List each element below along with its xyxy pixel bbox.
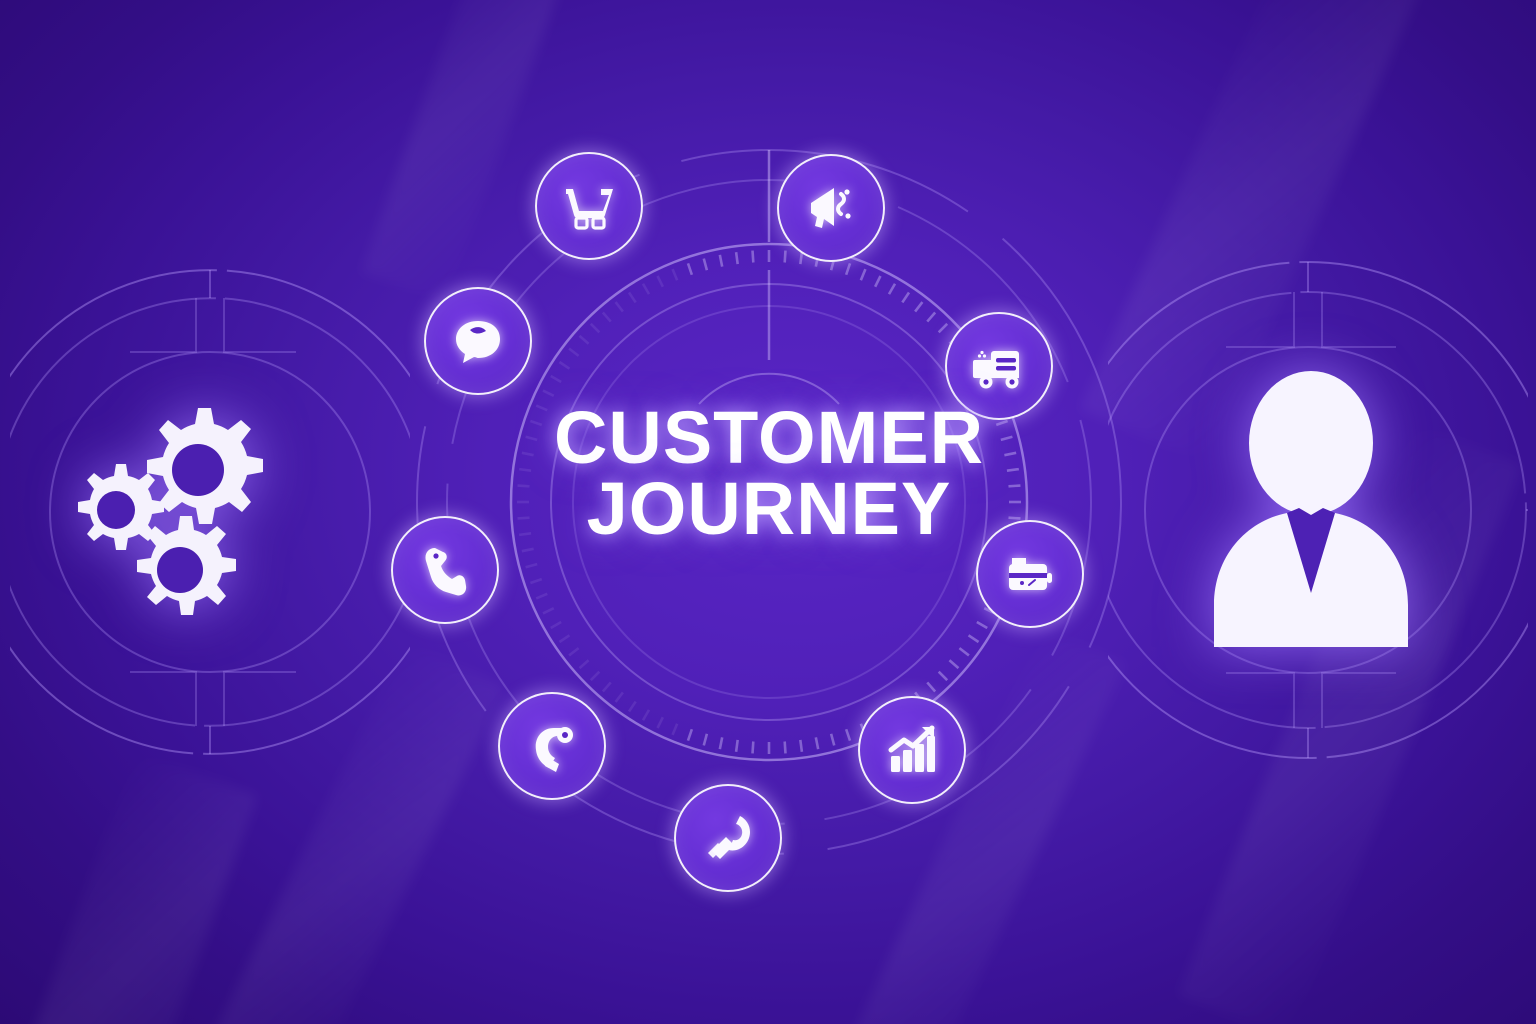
customer-person-panel — [1108, 255, 1528, 765]
title-line-2: JOURNEY — [369, 473, 1169, 544]
support-headset-icon — [524, 718, 580, 774]
node-analytics[interactable] — [858, 696, 966, 804]
node-chat[interactable] — [424, 287, 532, 395]
light-streak — [0, 750, 258, 1024]
process-gears-panel — [10, 262, 410, 762]
customer-journey-infographic: CUSTOMER JOURNEY — [0, 0, 1536, 1024]
page-title: CUSTOMER JOURNEY — [369, 402, 1169, 544]
growth-chart-icon — [884, 722, 940, 778]
telephone-icon — [417, 542, 473, 598]
speech-bubble-icon — [450, 313, 506, 369]
node-support[interactable] — [498, 692, 606, 800]
title-line-1: CUSTOMER — [369, 402, 1169, 473]
handshake-icon — [700, 810, 756, 866]
businessperson-icon — [1186, 365, 1436, 655]
node-announcement[interactable] — [777, 154, 885, 262]
shopping-cart-icon — [561, 178, 617, 234]
gears-icon — [58, 382, 318, 642]
wallet-icon — [1002, 546, 1058, 602]
delivery-truck-icon — [971, 338, 1027, 394]
central-journey-wheel: CUSTOMER JOURNEY — [369, 102, 1169, 902]
node-agreement[interactable] — [674, 784, 782, 892]
megaphone-icon — [803, 180, 859, 236]
node-shopping-cart[interactable] — [535, 152, 643, 260]
